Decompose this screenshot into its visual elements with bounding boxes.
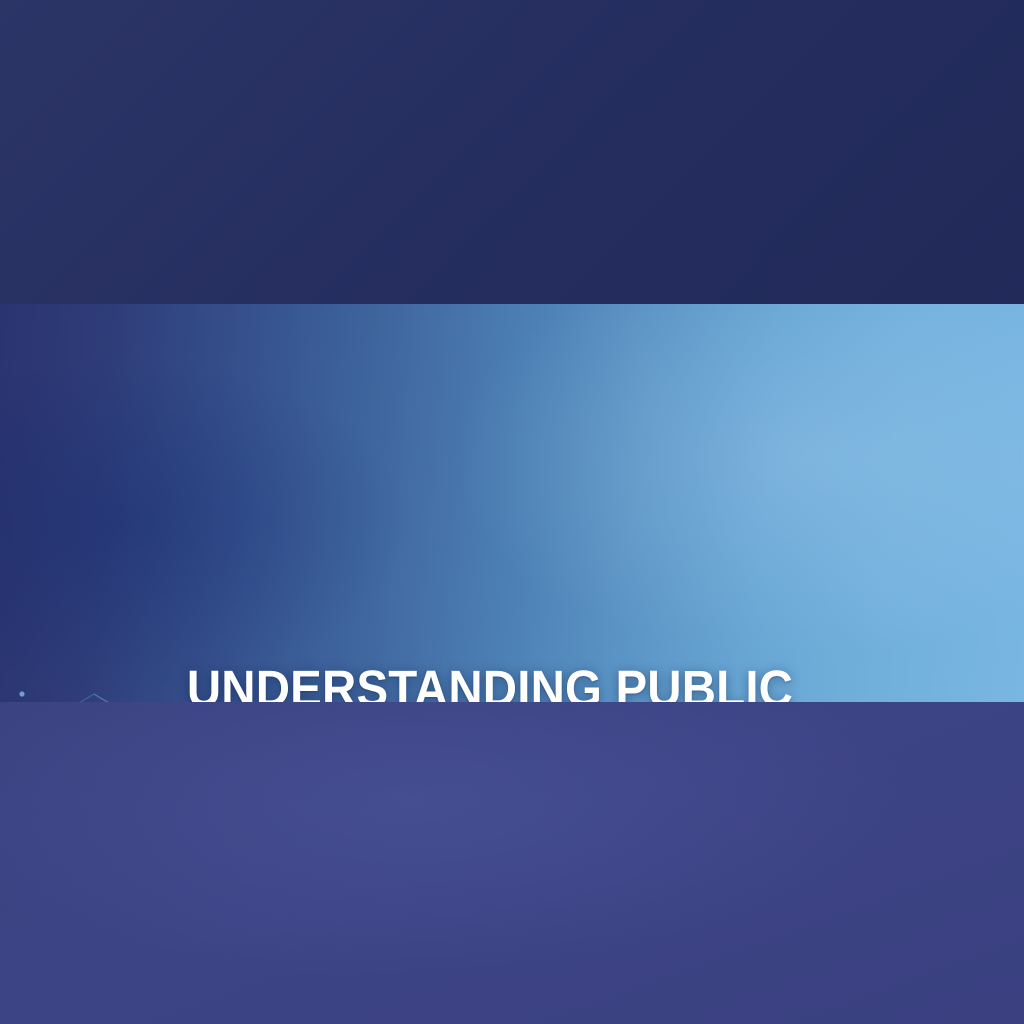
hero-banner: UNDERSTANDING PUBLIC API CONTRACT TESTIN… xyxy=(0,304,1024,702)
isometric-server-rack xyxy=(748,682,1024,702)
hexagon-network-illustration xyxy=(0,686,254,702)
network-node-glows xyxy=(0,691,221,702)
page-bottom-background xyxy=(0,702,1024,1024)
hex-lattice-background xyxy=(0,694,244,702)
connector-curves xyxy=(0,694,232,702)
banner-light-sheen xyxy=(0,304,1024,702)
